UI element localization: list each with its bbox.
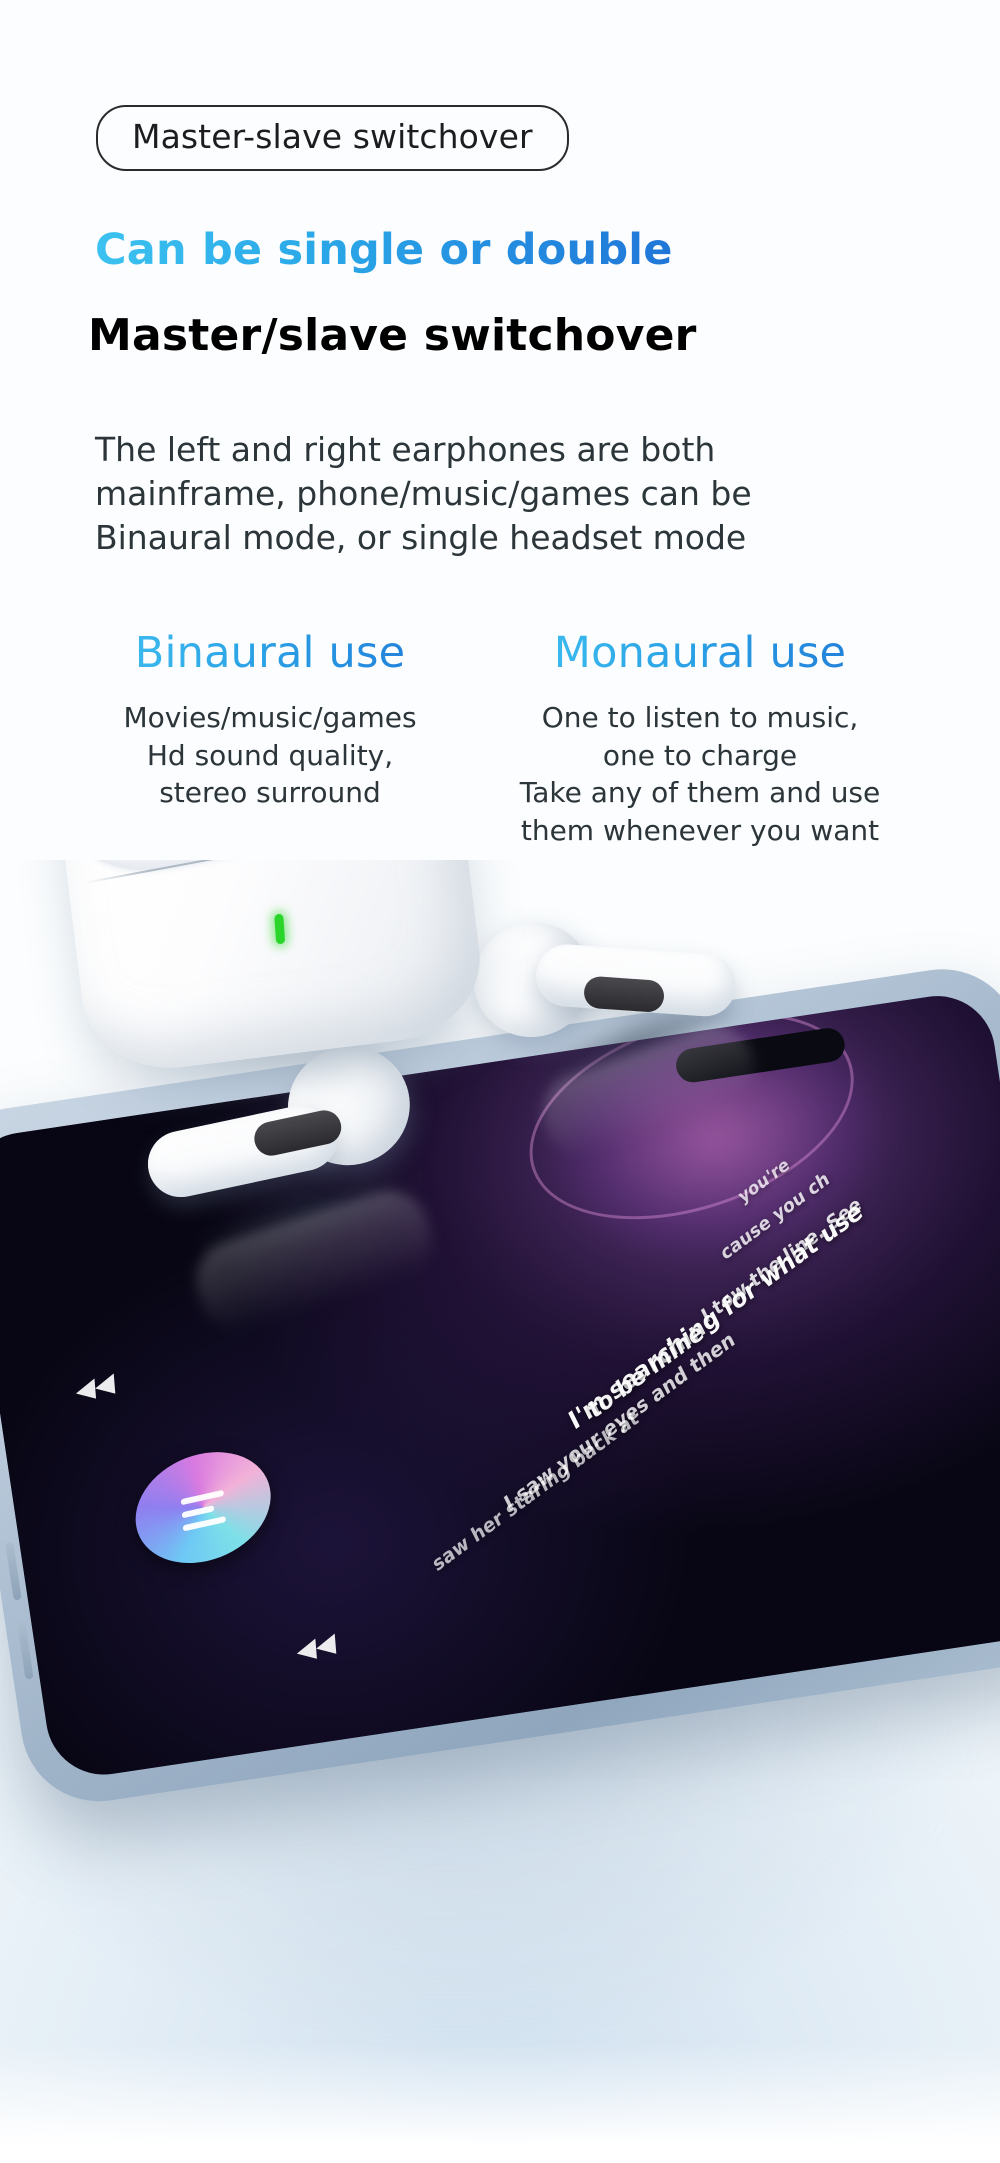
bottom-fade [0,2043,1000,2163]
lyrics-overlay: you're cause you ch I tow the line. See … [402,1102,1000,1711]
feature-monaural-line-2: one to charge [480,737,920,775]
hero-description: The left and right earphones are both ma… [95,428,735,560]
section-badge: Master-slave switchover [96,105,569,171]
feature-column-binaural: Binaural use Movies/music/games Hd sound… [60,630,480,849]
feature-monaural-line-4: them whenever you want [480,812,920,850]
feature-lines-binaural: Movies/music/games Hd sound quality, ste… [60,699,480,812]
equalizer-icon [181,1490,226,1526]
previous-track-icon[interactable]: ◀◀ [75,1369,116,1405]
next-track-icon[interactable]: ◀◀ [296,1629,337,1665]
product-photo-scene: ◀◀ ◀◀ you're cause you ch I tow the line… [0,860,1000,2163]
hero-description-line-3: Binaural mode, or single headset mode [95,516,735,560]
feature-columns: Binaural use Movies/music/games Hd sound… [60,630,940,849]
kicker-heading: Can be single or double [95,225,673,275]
album-art [132,1439,275,1576]
feature-monaural-line-3: Take any of them and use [480,774,920,812]
feature-lines-monaural: One to listen to music, one to charge Ta… [480,699,920,849]
lyric-line-7: saw her staring back at [429,1406,642,1576]
feature-binaural-line-3: stereo surround [60,774,480,812]
product-feature-page: Master-slave switchover Can be single or… [0,0,1000,2163]
feature-title-binaural: Binaural use [60,630,480,677]
hero-description-line-2: mainframe, phone/music/games can be [95,472,735,516]
feature-title-monaural: Monaural use [480,630,920,677]
badge-wrapper: Master-slave switchover [96,105,569,171]
hero-description-line-1: The left and right earphones are both [95,428,735,472]
back-earbud-mic-mesh [583,976,665,1014]
feature-binaural-line-2: Hd sound quality, [60,737,480,775]
feature-binaural-line-1: Movies/music/games [60,699,480,737]
feature-monaural-line-1: One to listen to music, [480,699,920,737]
feature-column-monaural: Monaural use One to listen to music, one… [480,630,920,849]
page-title: Master/slave switchover [88,310,697,361]
